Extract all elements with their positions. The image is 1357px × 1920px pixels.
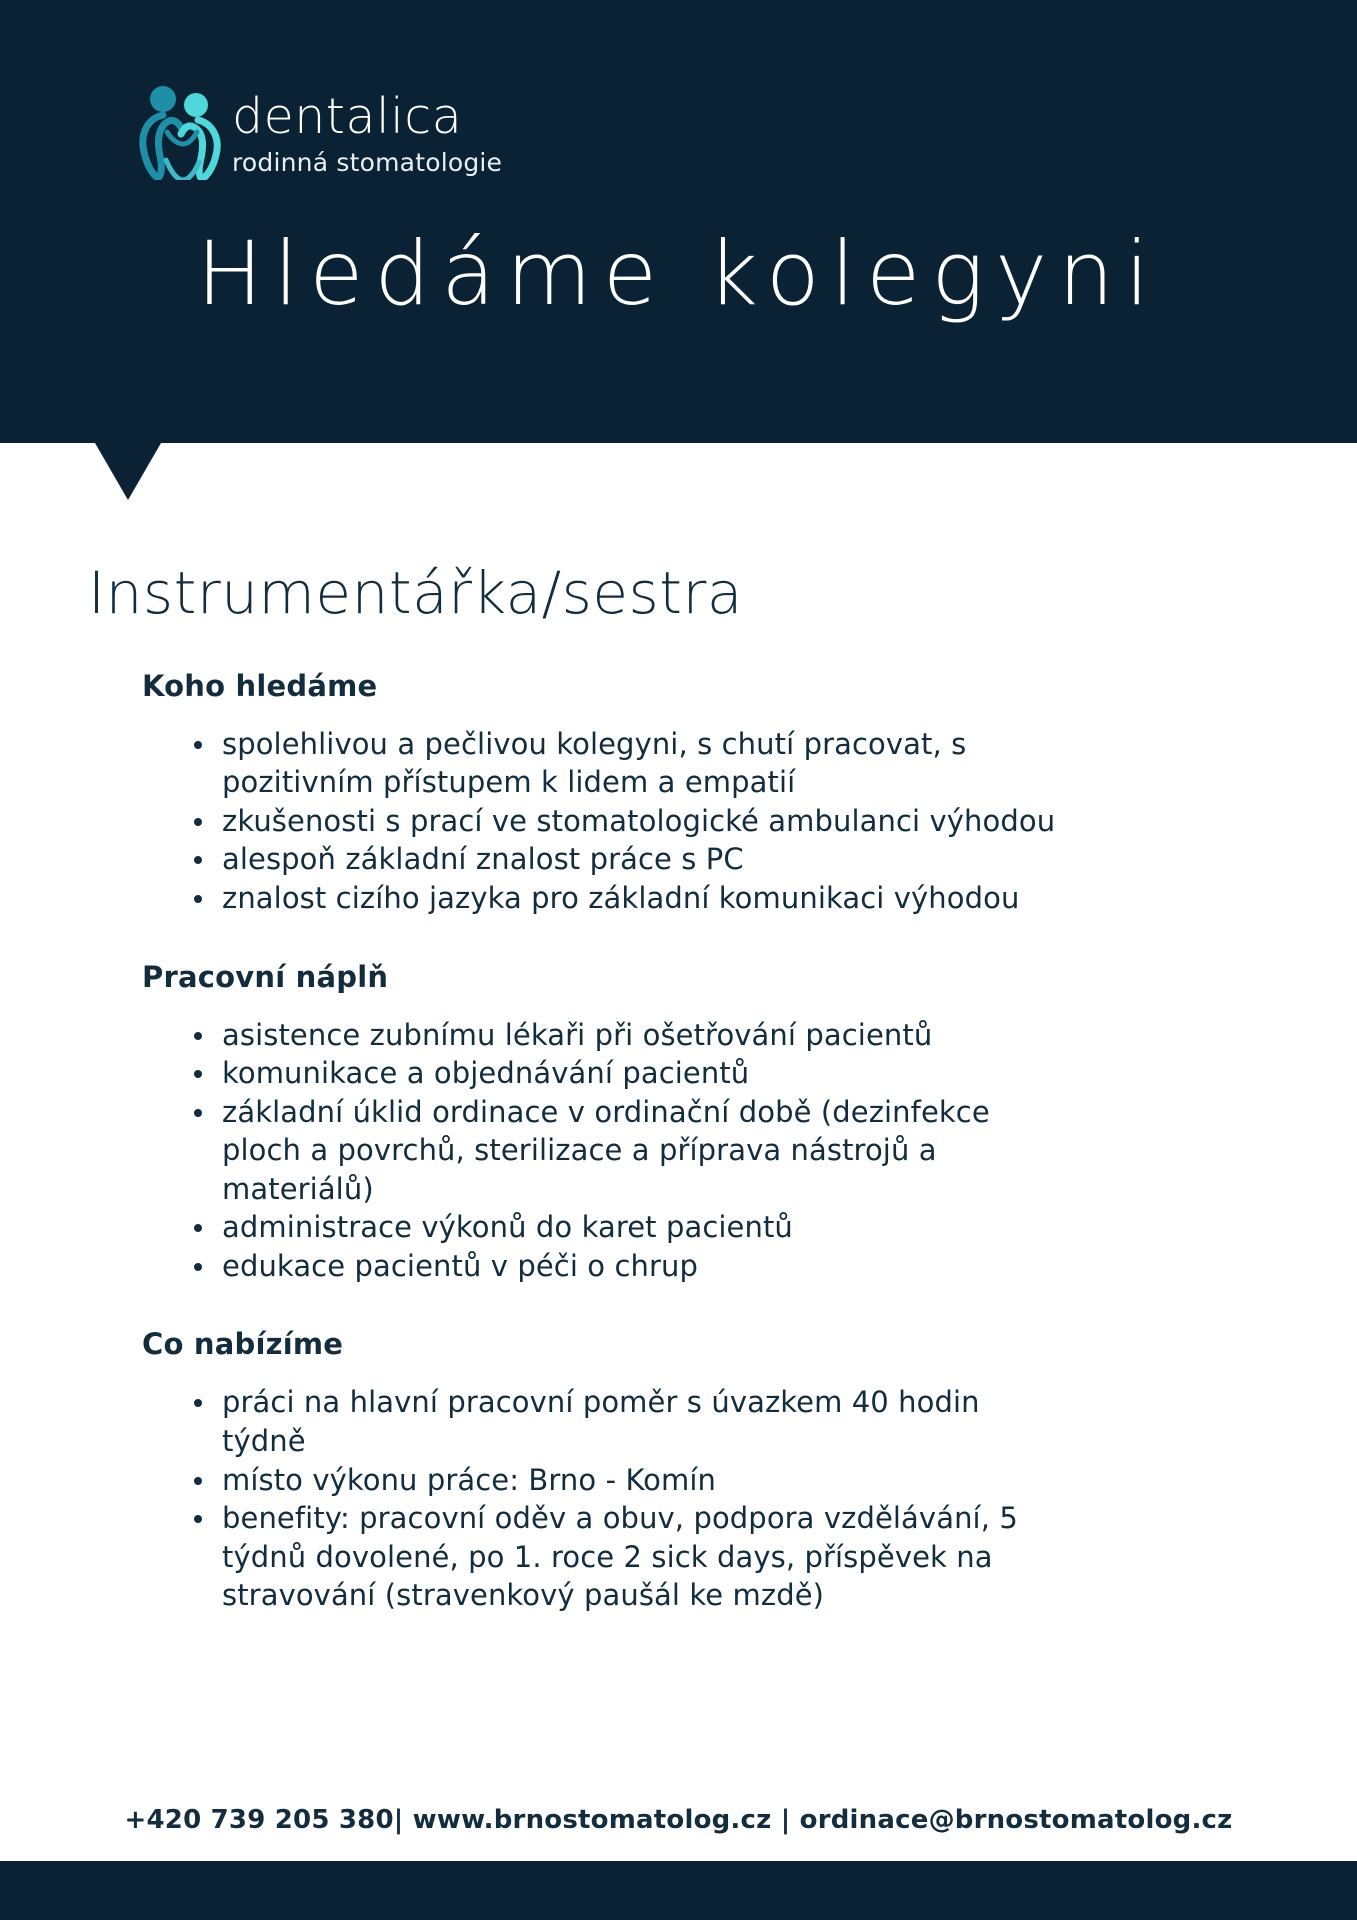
brand-text: dentalica rodinná stomatologie (232, 82, 502, 178)
offers-list: práci na hlavní pracovní poměr s úvazkem… (0, 1383, 1357, 1614)
brand-lockup: dentalica rodinná stomatologie (136, 82, 502, 180)
section-heading: Co nabízíme (142, 1327, 1357, 1361)
list-item: komunikace a objednávání pacientů (190, 1054, 1067, 1093)
page-headline: Hledáme kolegyni (0, 228, 1357, 320)
list-item: asistence zubnímu lékaři při ošetřování … (190, 1016, 1067, 1055)
list-item: práci na hlavní pracovní poměr s úvazkem… (190, 1383, 1067, 1460)
list-item: místo výkonu práce: Brno - Komín (190, 1461, 1067, 1500)
list-item: základní úklid ordinace v ordinační době… (190, 1093, 1067, 1209)
list-item: znalost cizího jazyka pro základní komun… (190, 879, 1067, 918)
duties-list: asistence zubnímu lékaři při ošetřování … (0, 1016, 1357, 1286)
list-item: alespoň základní znalost práce s PC (190, 840, 1067, 879)
list-item: zkušenosti s prací ve stomatologické amb… (190, 802, 1067, 841)
section-pracovni-napln: Pracovní náplň asistence zubnímu lékaři … (0, 960, 1357, 1286)
brand-tagline: rodinná stomatologie (232, 148, 502, 178)
triangle-pointer-icon (95, 443, 161, 500)
list-item: administrace výkonů do karet pacientů (190, 1208, 1067, 1247)
section-heading: Pracovní náplň (142, 960, 1357, 994)
brand-name: dentalica (232, 92, 502, 141)
section-co-nabizime: Co nabízíme práci na hlavní pracovní pom… (0, 1327, 1357, 1614)
requirements-list: spolehlivou a pečlivou kolegyni, s chutí… (0, 725, 1357, 918)
list-item: benefity: pracovní oděv a obuv, podpora … (190, 1499, 1067, 1615)
list-item: edukace pacientů v péči o chrup (190, 1247, 1067, 1286)
job-posting-poster: dentalica rodinná stomatologie Hledáme k… (0, 0, 1357, 1920)
footer-contact-line: +420 739 205 380| www.brnostomatolog.cz … (0, 1805, 1357, 1835)
footer-bar (0, 1861, 1357, 1920)
header-band: dentalica rodinná stomatologie Hledáme k… (0, 0, 1357, 443)
section-koho-hledame: Koho hledáme spolehlivou a pečlivou kole… (0, 669, 1357, 918)
list-item: spolehlivou a pečlivou kolegyni, s chutí… (190, 725, 1067, 802)
job-title: Instrumentářka/sestra (88, 560, 1357, 627)
two-figures-tooth-logo-icon (136, 82, 228, 180)
main-content: Instrumentářka/sestra Koho hledáme spole… (0, 560, 1357, 1615)
section-heading: Koho hledáme (142, 669, 1357, 703)
